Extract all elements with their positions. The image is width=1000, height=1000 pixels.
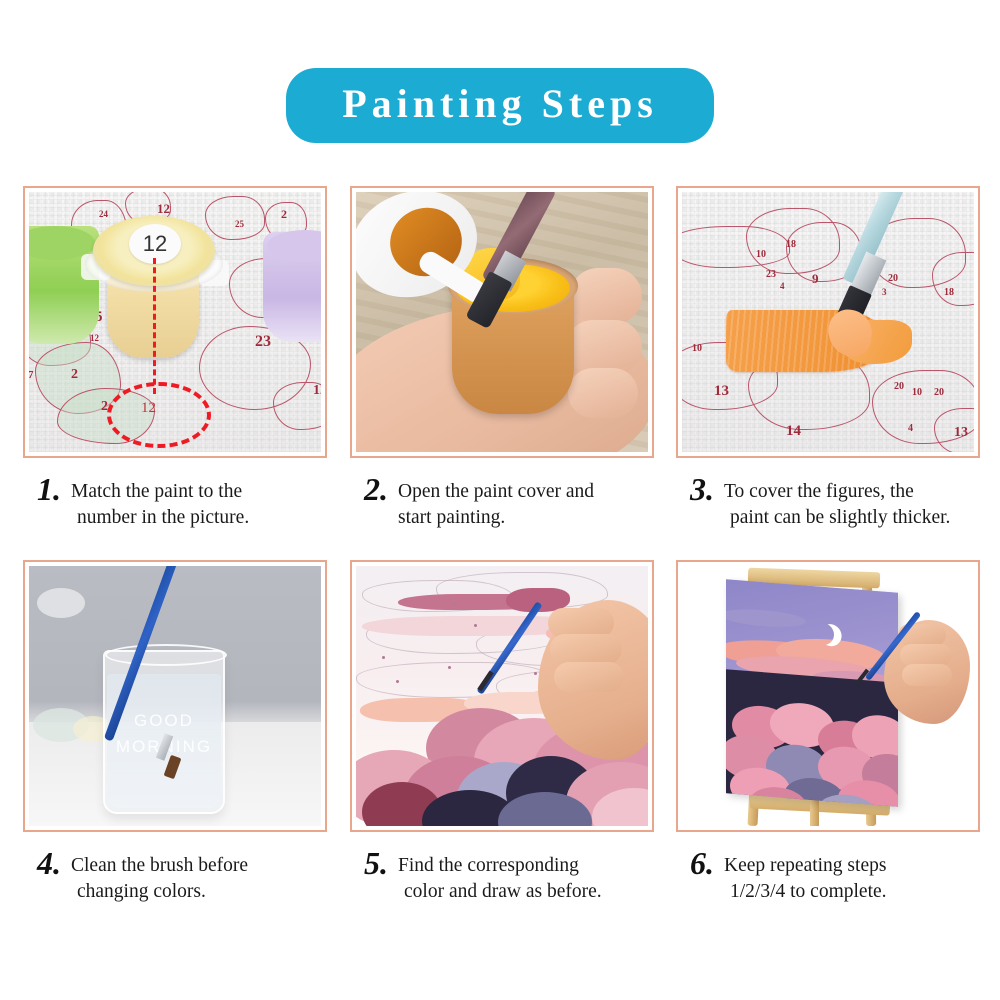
step-6-text: Keep repeating steps 1/2/3/4 to complete… — [724, 848, 887, 905]
title-banner: Painting Steps — [286, 68, 714, 143]
step-4-caption: 4. Clean the brush before changing color… — [23, 848, 327, 905]
step-3-line-1: To cover the figures, the — [724, 479, 950, 505]
brush-in-glass-of-water-image: GOOD MORNING — [29, 566, 321, 826]
purple-paint-pot — [263, 232, 321, 342]
step-1-number: 1. — [37, 474, 61, 504]
step-card-5: 5. Find the corresponding color and draw… — [350, 560, 654, 905]
step-1-line-2: number in the picture. — [71, 505, 249, 531]
step-6-image-frame — [676, 560, 980, 832]
step-3-text: To cover the figures, the paint can be s… — [724, 474, 950, 531]
step-5-line-1: Find the corresponding — [398, 853, 602, 879]
annotation-dashed-line — [153, 258, 156, 394]
step-5-image-frame — [350, 560, 654, 832]
steps-row-2: GOOD MORNING 4. Clean the brush before c… — [0, 560, 1000, 934]
step-2-text: Open the paint cover and start painting. — [398, 474, 594, 531]
step-4-number: 4. — [37, 848, 61, 878]
page-title: Painting Steps — [342, 82, 658, 126]
step-1-image-frame: 12 24 2 25 24 25 7 6 5 12 2 7 2 23 12 — [23, 186, 327, 458]
step-card-4: GOOD MORNING 4. Clean the brush before c… — [23, 560, 327, 905]
step-1-caption: 1. Match the paint to the number in the … — [23, 474, 327, 531]
step-6-line-1: Keep repeating steps — [724, 853, 887, 879]
step-3-caption: 3. To cover the figures, the paint can b… — [676, 474, 980, 531]
step-3-number: 3. — [690, 474, 714, 504]
step-card-6: 6. Keep repeating steps 1/2/3/4 to compl… — [676, 560, 980, 905]
finished-painting-on-wooden-easel-image — [682, 566, 974, 826]
green-paint-pot — [29, 226, 99, 344]
step-4-image-frame: GOOD MORNING — [23, 560, 327, 832]
step-2-image-frame — [350, 186, 654, 458]
step-2-caption: 2. Open the paint cover and start painti… — [350, 474, 654, 531]
step-card-3: 18 10 23 4 9 20 3 18 10 20 13 14 20 10 — [676, 186, 980, 531]
annotation-target-number: 12 — [141, 400, 156, 417]
step-5-number: 5. — [364, 848, 388, 878]
page-header: Painting Steps — [0, 68, 1000, 143]
step-1-line-1: Match the paint to the — [71, 479, 249, 505]
hand-opening-paint-pot-with-brush-image — [356, 192, 648, 452]
hand-painting-sakura-scene-in-progress-image — [356, 566, 648, 826]
step-4-line-2: changing colors. — [71, 879, 248, 905]
step-6-line-2: 1/2/3/4 to complete. — [724, 879, 887, 905]
step-2-number: 2. — [364, 474, 388, 504]
step-5-caption: 5. Find the corresponding color and draw… — [350, 848, 654, 905]
step-card-1: 12 24 2 25 24 25 7 6 5 12 2 7 2 23 12 — [23, 186, 327, 531]
steps-row-1: 12 24 2 25 24 25 7 6 5 12 2 7 2 23 12 — [0, 186, 1000, 560]
step-5-text: Find the corresponding color and draw as… — [398, 848, 602, 905]
steps-grid: 12 24 2 25 24 25 7 6 5 12 2 7 2 23 12 — [0, 186, 1000, 934]
paint-pot-matched-to-canvas-number-image: 12 24 2 25 24 25 7 6 5 12 2 7 2 23 12 — [29, 192, 321, 452]
finished-canvas — [726, 579, 898, 807]
annotation-dashed-ellipse — [107, 382, 211, 448]
brush-painting-orange-on-numbered-canvas-image: 18 10 23 4 9 20 3 18 10 20 13 14 20 10 — [682, 192, 974, 452]
step-6-number: 6. — [690, 848, 714, 878]
step-3-line-2: paint can be slightly thicker. — [724, 505, 950, 531]
step-1-text: Match the paint to the number in the pic… — [71, 474, 249, 531]
step-3-image-frame: 18 10 23 4 9 20 3 18 10 20 13 14 20 10 — [676, 186, 980, 458]
step-2-line-1: Open the paint cover and — [398, 479, 594, 505]
step-4-line-1: Clean the brush before — [71, 853, 248, 879]
step-2-line-2: start painting. — [398, 505, 594, 531]
step-5-line-2: color and draw as before. — [398, 879, 602, 905]
step-card-2: 2. Open the paint cover and start painti… — [350, 186, 654, 531]
step-6-caption: 6. Keep repeating steps 1/2/3/4 to compl… — [676, 848, 980, 905]
step-4-text: Clean the brush before changing colors. — [71, 848, 248, 905]
